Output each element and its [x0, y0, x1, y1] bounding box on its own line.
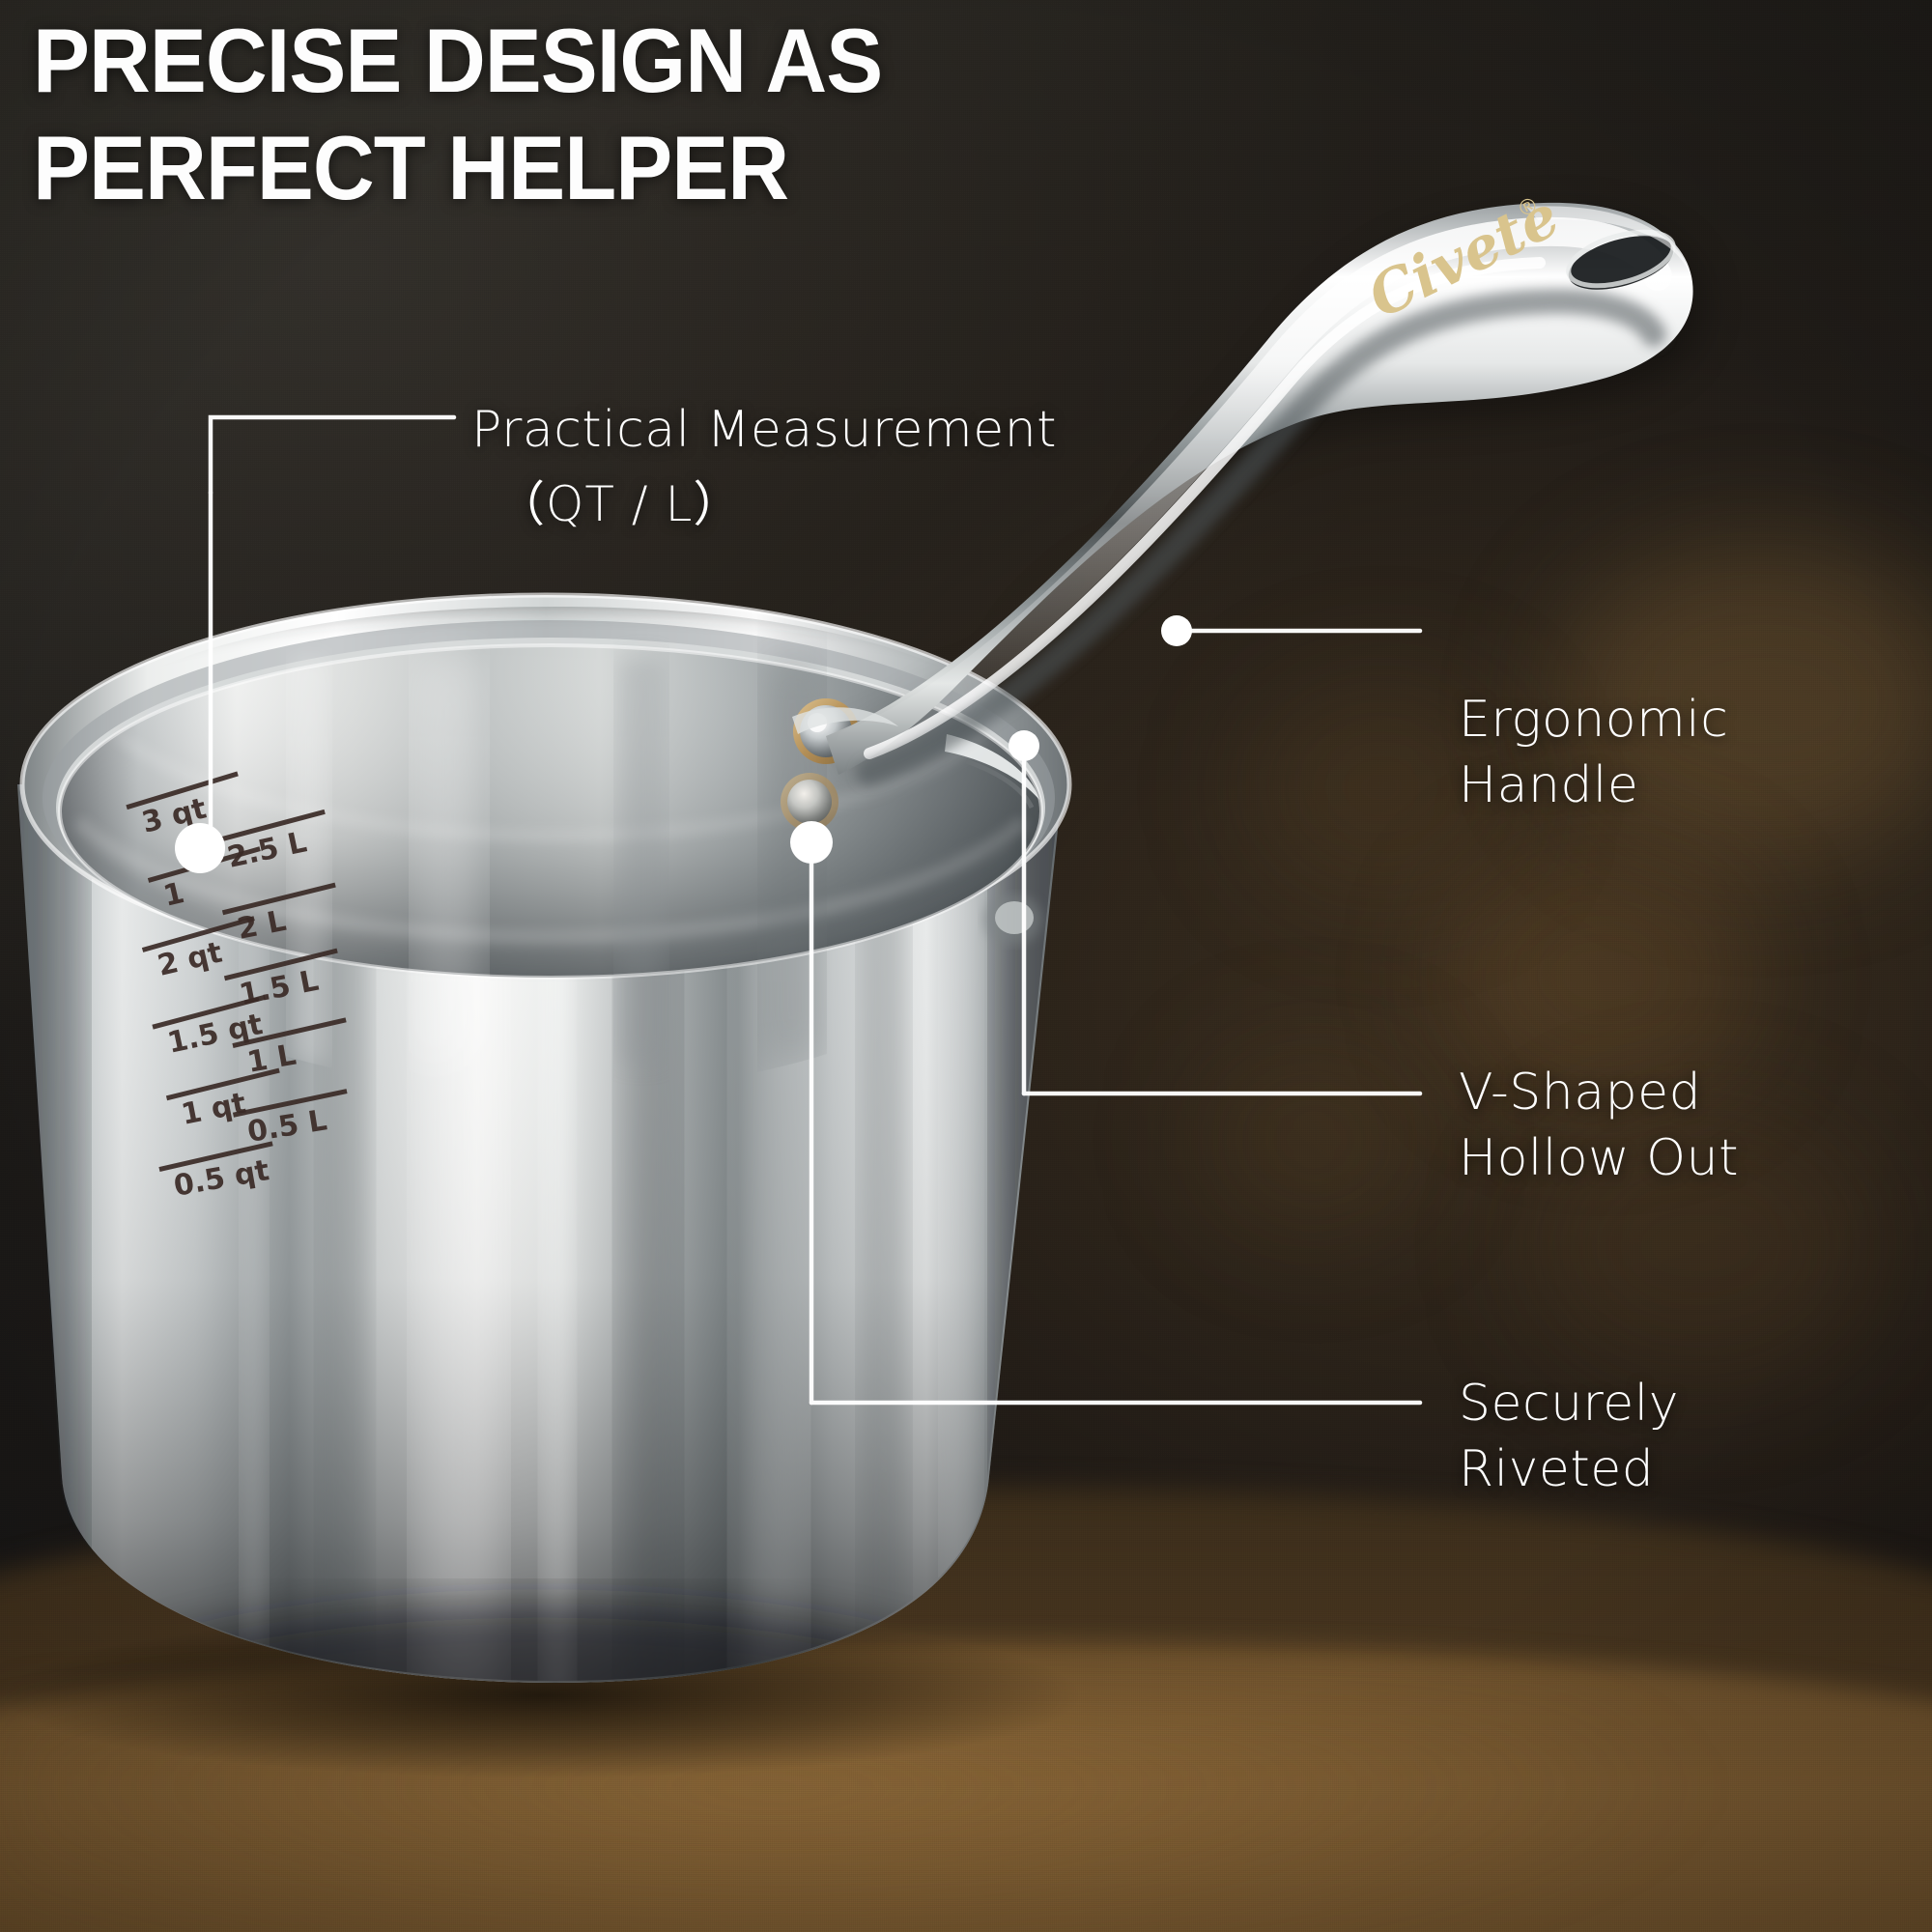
callout-measurement-line2: （QT / L）	[497, 473, 1057, 536]
callout-rivet-line1: Securely	[1459, 1375, 1679, 1433]
headline-line-2: PERFECT HELPER	[33, 115, 882, 222]
callout-rivet-line2: Riveted	[1459, 1437, 1679, 1503]
callout-measurement-line1: Practical Measurement	[471, 401, 1057, 459]
saucepan-illustration: 3 qt2 qt1.5 qt1 qt0.5 qt12.5 L2 L1.5 L1 …	[0, 0, 1932, 1932]
callout-handle-line2: Handle	[1459, 753, 1728, 819]
product-infographic: PRECISE DESIGN AS PERFECT HELPER	[0, 0, 1932, 1932]
callout-securely-riveted: Securely Riveted	[1459, 1372, 1679, 1502]
callout-vshape-line2: Hollow Out	[1459, 1126, 1739, 1192]
rivet-lower	[781, 773, 838, 831]
headline: PRECISE DESIGN AS PERFECT HELPER	[33, 8, 882, 222]
callout-handle-line1: Ergonomic	[1459, 691, 1728, 749]
callout-ergonomic-handle: Ergonomic Handle	[1459, 688, 1728, 818]
callout-practical-measurement: Practical Measurement （QT / L）	[471, 398, 1057, 536]
callout-vshape-line1: V-Shaped	[1459, 1064, 1701, 1122]
callout-v-shaped-hollow-out: V-Shaped Hollow Out	[1459, 1061, 1739, 1191]
headline-line-1: PRECISE DESIGN AS	[33, 8, 882, 115]
